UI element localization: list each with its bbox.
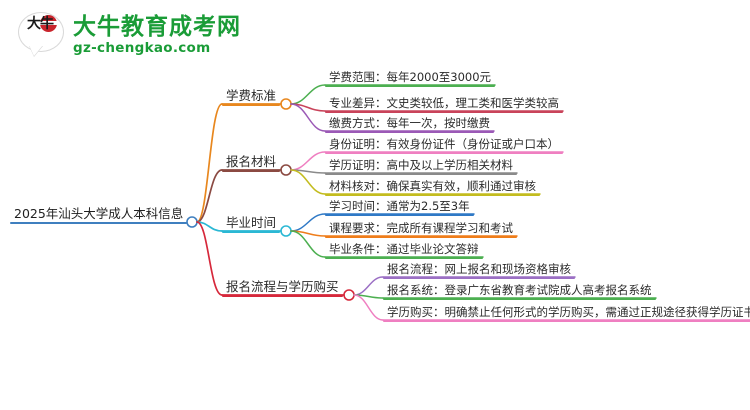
mindmap-leaf-3-1[interactable]: 学习时间：通常为2.5至3年 xyxy=(325,198,474,215)
mindmap-branch-2[interactable]: 报名材料 xyxy=(222,151,280,171)
node-underline xyxy=(222,295,343,297)
node-underline xyxy=(10,222,187,224)
mindmap-leaf-3-2[interactable]: 课程要求：完成所有课程学习和考试 xyxy=(325,220,517,237)
node-underline xyxy=(325,111,563,113)
mindmap-leaf-2-2[interactable]: 学历证明：高中及以上学历相关材料 xyxy=(325,157,517,174)
mindmap-leaf-1-3[interactable]: 缴费方式：每年一次，按时缴费 xyxy=(325,115,494,132)
node-underline xyxy=(325,131,494,133)
node-underline xyxy=(222,104,280,106)
node-underline xyxy=(325,257,483,259)
node-underline xyxy=(325,214,474,216)
node-underline xyxy=(383,320,750,322)
mindmap-root-node[interactable]: 2025年汕头大学成人本科信息 xyxy=(10,203,187,223)
node-underline xyxy=(325,85,495,87)
node-underline xyxy=(325,236,517,238)
mindmap-leaf-4-2[interactable]: 报名系统：登录广东省教育考试院成人高考报名系统 xyxy=(383,282,656,299)
mindmap-branch-3[interactable]: 毕业时间 xyxy=(222,212,280,232)
node-underline xyxy=(222,170,280,172)
node-underline xyxy=(383,298,656,300)
node-underline xyxy=(222,231,280,233)
mindmap-leaf-2-3[interactable]: 材料核对：确保真实有效，顺利通过审核 xyxy=(325,178,540,195)
mindmap-canvas: 2025年汕头大学成人本科信息学费标准学费范围：每年2000至3000元专业差异… xyxy=(0,0,750,410)
mindmap-leaf-2-1[interactable]: 身份证明：有效身份证件（身份证或户口本） xyxy=(325,136,563,153)
mindmap-leaf-3-3[interactable]: 毕业条件：通过毕业论文答辩 xyxy=(325,241,483,258)
mindmap-leaf-1-1[interactable]: 学费范围：每年2000至3000元 xyxy=(325,69,495,86)
mindmap-branch-4[interactable]: 报名流程与学历购买 xyxy=(222,276,343,296)
mindmap-leaf-4-3[interactable]: 学历购买：明确禁止任何形式的学历购买，需通过正规途径获得学历证书 xyxy=(383,304,750,321)
node-underline xyxy=(325,152,563,154)
mindmap-leaf-4-1[interactable]: 报名流程：网上报名和现场资格审核 xyxy=(383,261,575,278)
mindmap-leaf-1-2[interactable]: 专业差异：文史类较低，理工类和医学类较高 xyxy=(325,95,563,112)
mindmap-branch-1[interactable]: 学费标准 xyxy=(222,85,280,105)
node-underline xyxy=(325,194,540,196)
node-underline xyxy=(383,277,575,279)
node-underline xyxy=(325,173,517,175)
